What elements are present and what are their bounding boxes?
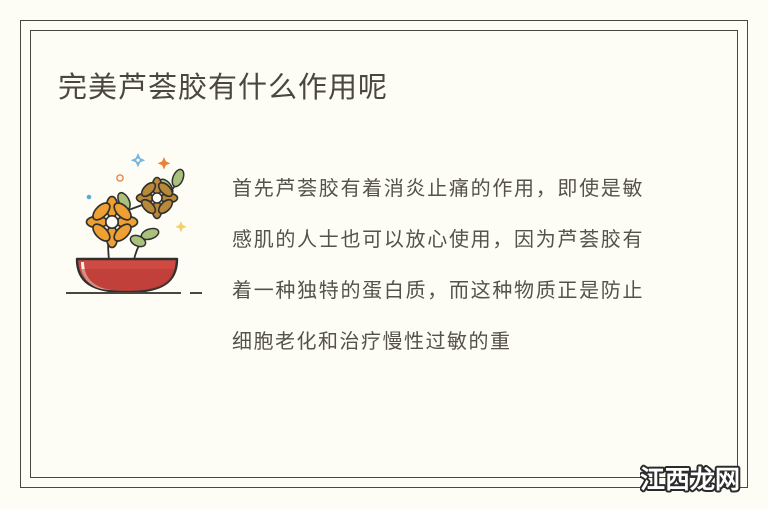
- orange-circle-icon: [117, 175, 123, 181]
- yellow-sparkle-icon: [175, 221, 186, 232]
- flower-pot: [77, 259, 177, 292]
- potted-flower-illustration: [62, 140, 212, 305]
- flower-back: [137, 178, 178, 219]
- blue-dot-icon: [87, 195, 92, 200]
- article-body: 首先芦荟胶有着消炎止痛的作用，即使是敏感肌的人士也可以放心使用，因为芦荟胶有着一…: [232, 163, 644, 367]
- site-watermark: 江西龙网 江西龙网: [640, 462, 744, 496]
- blue-star-icon: [131, 153, 145, 167]
- watermark-text: 江西龙网: [640, 466, 740, 494]
- page-title: 完美芦荟胶有什么作用呢: [58, 68, 388, 108]
- orange-star-icon: [158, 157, 171, 170]
- article-page: 完美芦荟胶有什么作用呢: [0, 0, 768, 510]
